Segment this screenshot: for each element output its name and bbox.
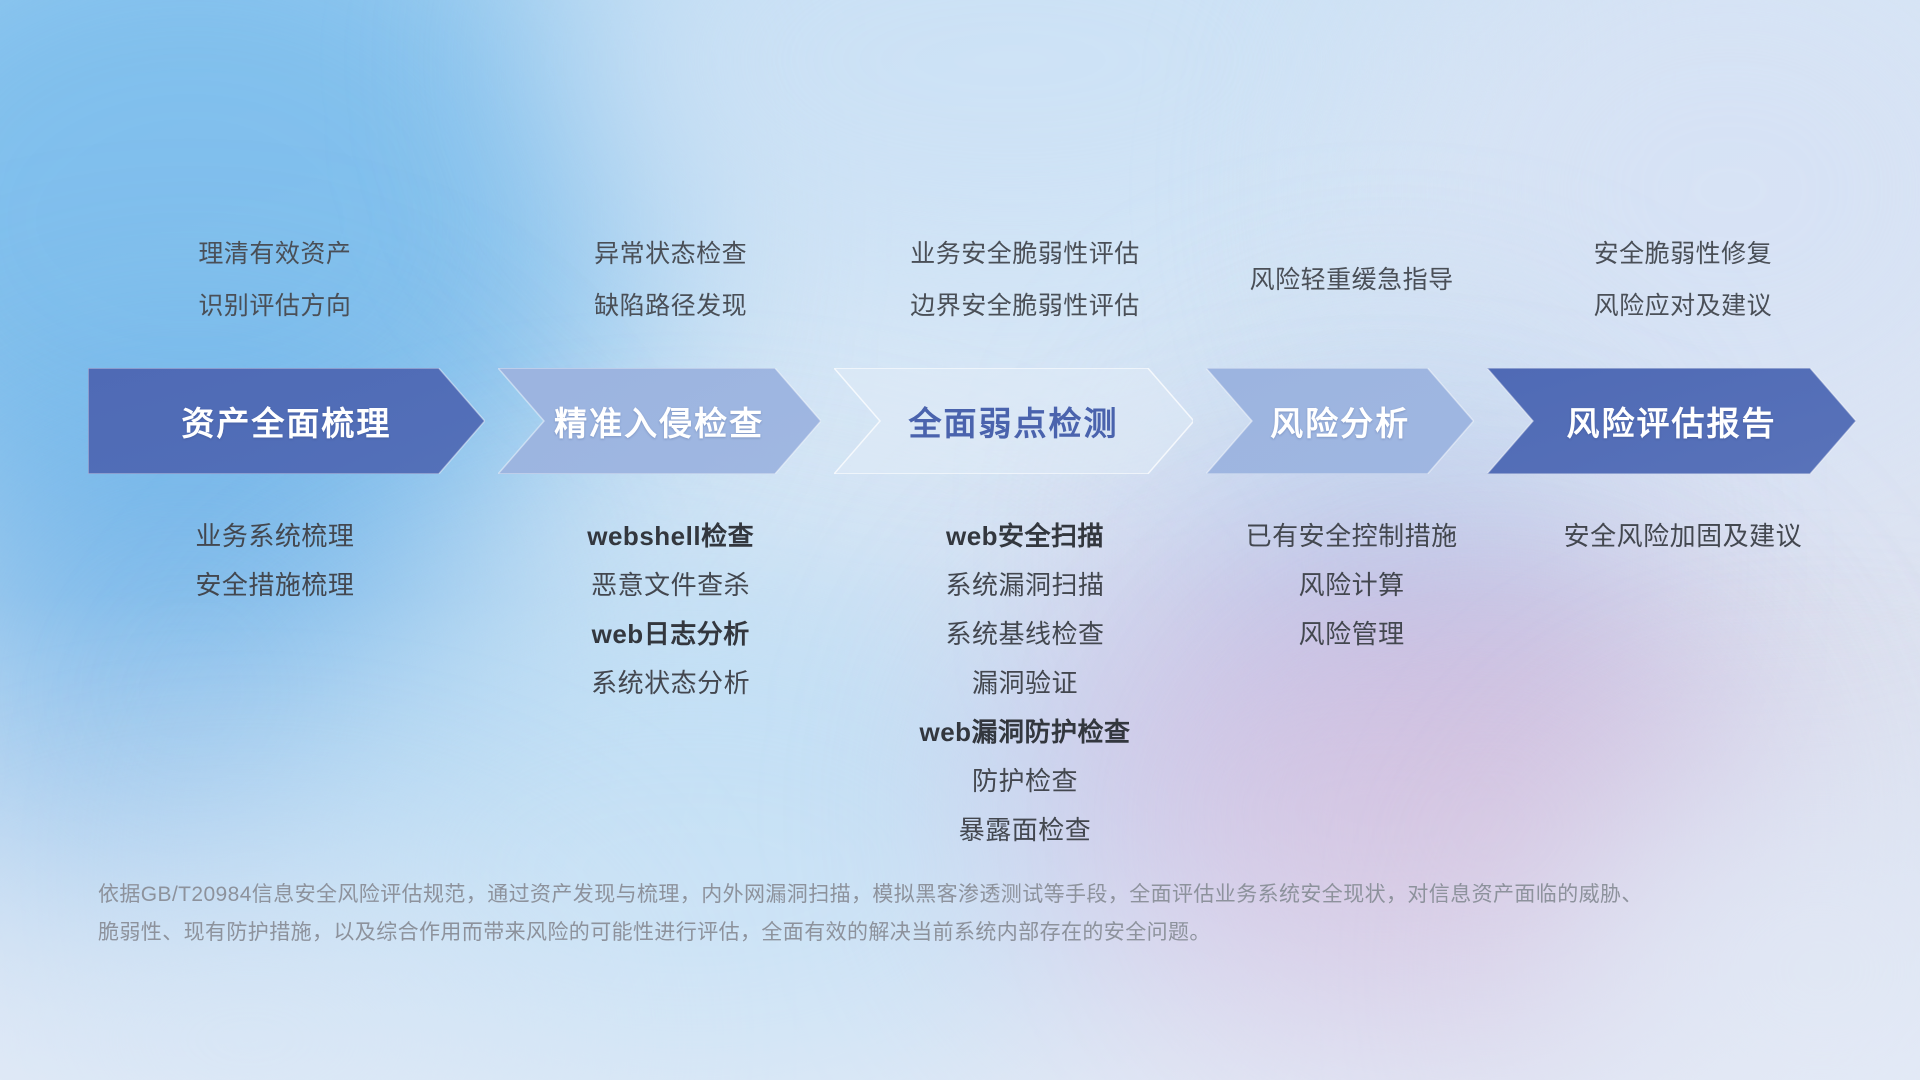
process-stage-weakness-detection[interactable]: 全面弱点检测 xyxy=(834,368,1194,474)
stage-title: 全面弱点检测 xyxy=(909,397,1119,445)
top-label: 安全脆弱性修复 xyxy=(1383,228,1920,280)
top-labels-assessment-report: 安全脆弱性修复风险应对及建议 xyxy=(1383,228,1920,332)
bottom-item: 安全风险加固及建议 xyxy=(1383,512,1920,561)
bottom-item: web漏洞防护检查 xyxy=(725,708,1325,757)
stage-title: 精准入侵检查 xyxy=(554,397,764,445)
process-arrow-banner: 资产全面梳理精准入侵检查全面弱点检测风险分析风险评估报告 xyxy=(88,368,1856,474)
stage-title: 风险评估报告 xyxy=(1566,397,1776,445)
process-stage-intrusion-check[interactable]: 精准入侵检查 xyxy=(498,368,821,474)
bottom-item: 风险计算 xyxy=(1052,561,1652,610)
bottom-item: 漏洞验证 xyxy=(725,659,1325,708)
bottom-item: 防护检查 xyxy=(725,757,1325,806)
stage-bottom-lists-row: 业务系统梳理安全措施梳理webshell检查恶意文件查杀web日志分析系统状态分… xyxy=(0,512,1920,842)
process-stage-risk-analysis[interactable]: 风险分析 xyxy=(1206,368,1474,474)
stage-title: 风险分析 xyxy=(1270,397,1410,445)
bottom-items-assessment-report: 安全风险加固及建议 xyxy=(1383,512,1920,561)
stage-top-labels-row: 理清有效资产识别评估方向异常状态检查缺陷路径发现业务安全脆弱性评估边界安全脆弱性… xyxy=(0,228,1920,338)
process-stage-asset-inventory[interactable]: 资产全面梳理 xyxy=(88,368,485,474)
bottom-item: 暴露面检查 xyxy=(725,806,1325,855)
top-label: 风险应对及建议 xyxy=(1383,280,1920,332)
stage-title: 资产全面梳理 xyxy=(181,397,391,445)
footer-description: 依据GB/T20984信息安全风险评估规范，通过资产发现与梳理，内外网漏洞扫描，… xyxy=(98,876,1658,952)
process-stage-assessment-report[interactable]: 风险评估报告 xyxy=(1487,368,1856,474)
bottom-item: 风险管理 xyxy=(1052,610,1652,659)
